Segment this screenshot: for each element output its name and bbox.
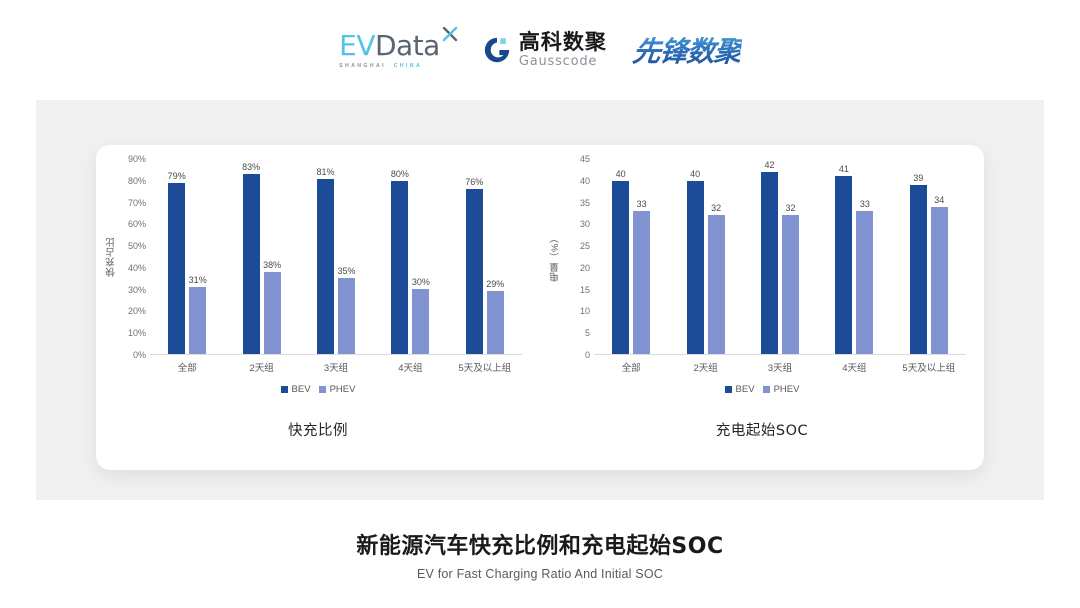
chart-caption-right: 充电起始SOC [540, 419, 984, 440]
bar-bev[interactable]: 76% [466, 159, 483, 354]
bar-value-label: 39 [913, 173, 923, 183]
bar-rect [708, 215, 725, 354]
x-axis-label: 全部 [150, 360, 224, 374]
bars-left: 79%31%83%38%81%35%80%30%76%29% [150, 159, 522, 354]
bar-rect [168, 183, 185, 354]
legend-swatch-icon [319, 386, 326, 393]
legend-item-phev[interactable]: PHEV [763, 384, 800, 395]
xianfeng-logo: 先锋数聚 [631, 30, 743, 70]
x-axis-label: 5天及以上组 [892, 360, 966, 374]
bar-value-label: 35% [337, 266, 355, 276]
bar-value-label: 40 [690, 169, 700, 179]
bar-phev[interactable]: 35% [338, 159, 355, 354]
y-ticks-left: 0%10%20%30%40%50%60%70%80%90% [120, 159, 150, 355]
bar-group: 4033 [612, 159, 650, 354]
legend-item-phev[interactable]: PHEV [319, 384, 356, 395]
bar-group: 80%30% [391, 159, 429, 354]
y-tick: 0 [585, 350, 590, 360]
bar-phev[interactable]: 32 [708, 159, 725, 354]
bar-value-label: 76% [465, 177, 483, 187]
y-tick: 10 [580, 306, 590, 316]
bar-rect [633, 211, 650, 354]
bar-phev[interactable]: 29% [487, 159, 504, 354]
x-axis-label: 3天组 [299, 360, 373, 374]
bar-value-label: 32 [711, 203, 721, 213]
bar-group: 79%31% [168, 159, 206, 354]
y-tick: 0% [133, 350, 146, 360]
legend-right: BEVPHEV [540, 384, 984, 395]
evdata-letter-v: V [356, 29, 375, 62]
y-tick: 50% [128, 241, 146, 251]
bar-group: 4032 [687, 159, 725, 354]
y-axis-title-right-text: 电量（%） [549, 233, 563, 282]
bar-value-label: 81% [316, 167, 334, 177]
evdata-tagline-china: CHINA [394, 63, 422, 69]
legend-left: BEVPHEV [96, 384, 540, 395]
bar-rect [466, 189, 483, 354]
bar-value-label: 30% [412, 277, 430, 287]
bar-rect [487, 291, 504, 354]
bar-group: 4232 [761, 159, 799, 354]
bar-bev[interactable]: 39 [910, 159, 927, 354]
legend-label: BEV [292, 384, 311, 395]
y-tick: 90% [128, 154, 146, 164]
y-tick: 20 [580, 263, 590, 273]
legend-swatch-icon [725, 386, 732, 393]
bar-phev[interactable]: 34 [931, 159, 948, 354]
y-tick: 80% [128, 176, 146, 186]
bar-rect [931, 207, 948, 354]
legend-swatch-icon [763, 386, 770, 393]
bar-value-label: 42 [764, 160, 774, 170]
bar-bev[interactable]: 42 [761, 159, 778, 354]
bar-bev[interactable]: 81% [317, 159, 334, 354]
evdata-logo: EVData SHANGHAI CHINA [339, 32, 456, 69]
bar-phev[interactable]: 33 [633, 159, 650, 354]
bar-rect [264, 272, 281, 354]
evdata-letter-data: Data [375, 29, 440, 62]
gausscode-wordmark: 高科数聚 Gausscode [519, 32, 607, 68]
chart-initial-soc: 电量（%） 051015202530354045 403340324232413… [540, 145, 984, 470]
chart-fast-charging-ratio: 快充占比 0%10%20%30%40%50%60%70%80%90% 79%31… [96, 145, 540, 470]
legend-label: BEV [736, 384, 755, 395]
evdata-tagline-shanghai: SHANGHAI [339, 63, 386, 69]
gausscode-logo: 高科数聚 Gausscode [482, 32, 607, 68]
y-tick: 35 [580, 198, 590, 208]
y-tick: 70% [128, 198, 146, 208]
bar-bev[interactable]: 83% [243, 159, 260, 354]
x-axis-label: 4天组 [817, 360, 891, 374]
gausscode-cn-name: 高科数聚 [519, 32, 607, 53]
bar-rect [338, 278, 355, 354]
legend-item-bev[interactable]: BEV [281, 384, 311, 395]
chart-area-right: 电量（%） 051015202530354045 403340324232413… [548, 159, 966, 355]
chart-area-left: 快充占比 0%10%20%30%40%50%60%70%80%90% 79%31… [104, 159, 522, 355]
plot-right: 40334032423241333934 [594, 159, 966, 355]
y-tick: 25 [580, 241, 590, 251]
y-tick: 10% [128, 328, 146, 338]
page-subtitle: EV for Fast Charging Ratio And Initial S… [0, 567, 1080, 581]
x-labels-left: 全部2天组3天组4天组5天及以上组 [150, 360, 522, 374]
legend-label: PHEV [774, 384, 800, 395]
x-axis-label: 2天组 [224, 360, 298, 374]
y-tick: 30 [580, 219, 590, 229]
y-tick: 40 [580, 176, 590, 186]
bar-rect [687, 181, 704, 354]
charts-row: 快充占比 0%10%20%30%40%50%60%70%80%90% 79%31… [96, 145, 984, 470]
bar-phev[interactable]: 33 [856, 159, 873, 354]
bar-value-label: 33 [860, 199, 870, 209]
x-axis-label: 2天组 [668, 360, 742, 374]
footer: 新能源汽车快充比例和充电起始SOC EV for Fast Charging R… [0, 528, 1080, 581]
y-tick: 60% [128, 219, 146, 229]
bar-rect [761, 172, 778, 354]
bar-rect [317, 179, 334, 355]
bar-value-label: 83% [242, 162, 260, 172]
bar-rect [782, 215, 799, 354]
x-axis-label: 全部 [594, 360, 668, 374]
evdata-wordmark: EVData [339, 32, 440, 60]
bar-rect [612, 181, 629, 354]
y-tick: 45 [580, 154, 590, 164]
bar-rect [856, 211, 873, 354]
x-axis-label: 3天组 [743, 360, 817, 374]
bar-value-label: 40 [616, 169, 626, 179]
y-tick: 15 [580, 285, 590, 295]
y-tick: 5 [585, 328, 590, 338]
bar-rect [412, 289, 429, 354]
bar-value-label: 80% [391, 169, 409, 179]
bar-value-label: 79% [168, 171, 186, 181]
bar-value-label: 41 [839, 164, 849, 174]
bar-rect [835, 176, 852, 354]
bar-rect [391, 181, 408, 354]
bar-bev[interactable]: 40 [612, 159, 629, 354]
bar-bev[interactable]: 79% [168, 159, 185, 354]
y-axis-title-left: 快充占比 [104, 159, 120, 355]
x-labels-right: 全部2天组3天组4天组5天及以上组 [594, 360, 966, 374]
x-axis-label: 4天组 [373, 360, 447, 374]
bar-bev[interactable]: 80% [391, 159, 408, 354]
charts-card: 快充占比 0%10%20%30%40%50%60%70%80%90% 79%31… [96, 145, 984, 470]
evdata-tagline: SHANGHAI CHINA [339, 63, 422, 69]
bar-phev[interactable]: 30% [412, 159, 429, 354]
bar-bev[interactable]: 41 [835, 159, 852, 354]
bar-phev[interactable]: 31% [189, 159, 206, 354]
y-tick: 30% [128, 285, 146, 295]
x-axis-label: 5天及以上组 [448, 360, 522, 374]
bar-value-label: 32 [785, 203, 795, 213]
y-ticks-right: 051015202530354045 [564, 159, 594, 355]
bar-rect [189, 287, 206, 354]
legend-label: PHEV [330, 384, 356, 395]
bar-value-label: 31% [189, 275, 207, 285]
bar-value-label: 29% [486, 279, 504, 289]
bar-value-label: 38% [263, 260, 281, 270]
y-tick: 20% [128, 306, 146, 316]
y-axis-title-left-text: 快充占比 [105, 237, 119, 277]
evdata-letter-e: E [339, 29, 356, 62]
page-title: 新能源汽车快充比例和充电起始SOC [0, 528, 1080, 560]
plot-left: 79%31%83%38%81%35%80%30%76%29% [150, 159, 522, 355]
legend-item-bev[interactable]: BEV [725, 384, 755, 395]
bar-phev[interactable]: 32 [782, 159, 799, 354]
bar-rect [243, 174, 260, 354]
bar-rect [910, 185, 927, 354]
bar-group: 76%29% [466, 159, 504, 354]
bars-right: 40334032423241333934 [594, 159, 966, 354]
y-axis-title-right: 电量（%） [548, 159, 564, 355]
bar-bev[interactable]: 40 [687, 159, 704, 354]
logo-bar: EVData SHANGHAI CHINA 高科数聚 Gausscode 先锋数… [0, 24, 1080, 76]
bar-group: 4133 [835, 159, 873, 354]
bar-value-label: 34 [934, 195, 944, 205]
bar-group: 3934 [910, 159, 948, 354]
gausscode-en-name: Gausscode [519, 55, 607, 68]
bar-value-label: 33 [637, 199, 647, 209]
bar-group: 81%35% [317, 159, 355, 354]
bar-phev[interactable]: 38% [264, 159, 281, 354]
y-tick: 40% [128, 263, 146, 273]
legend-swatch-icon [281, 386, 288, 393]
chart-caption-left: 快充比例 [96, 419, 540, 440]
bar-group: 83%38% [243, 159, 281, 354]
gausscode-mark-icon [482, 35, 512, 65]
x-cross-icon [442, 27, 458, 43]
